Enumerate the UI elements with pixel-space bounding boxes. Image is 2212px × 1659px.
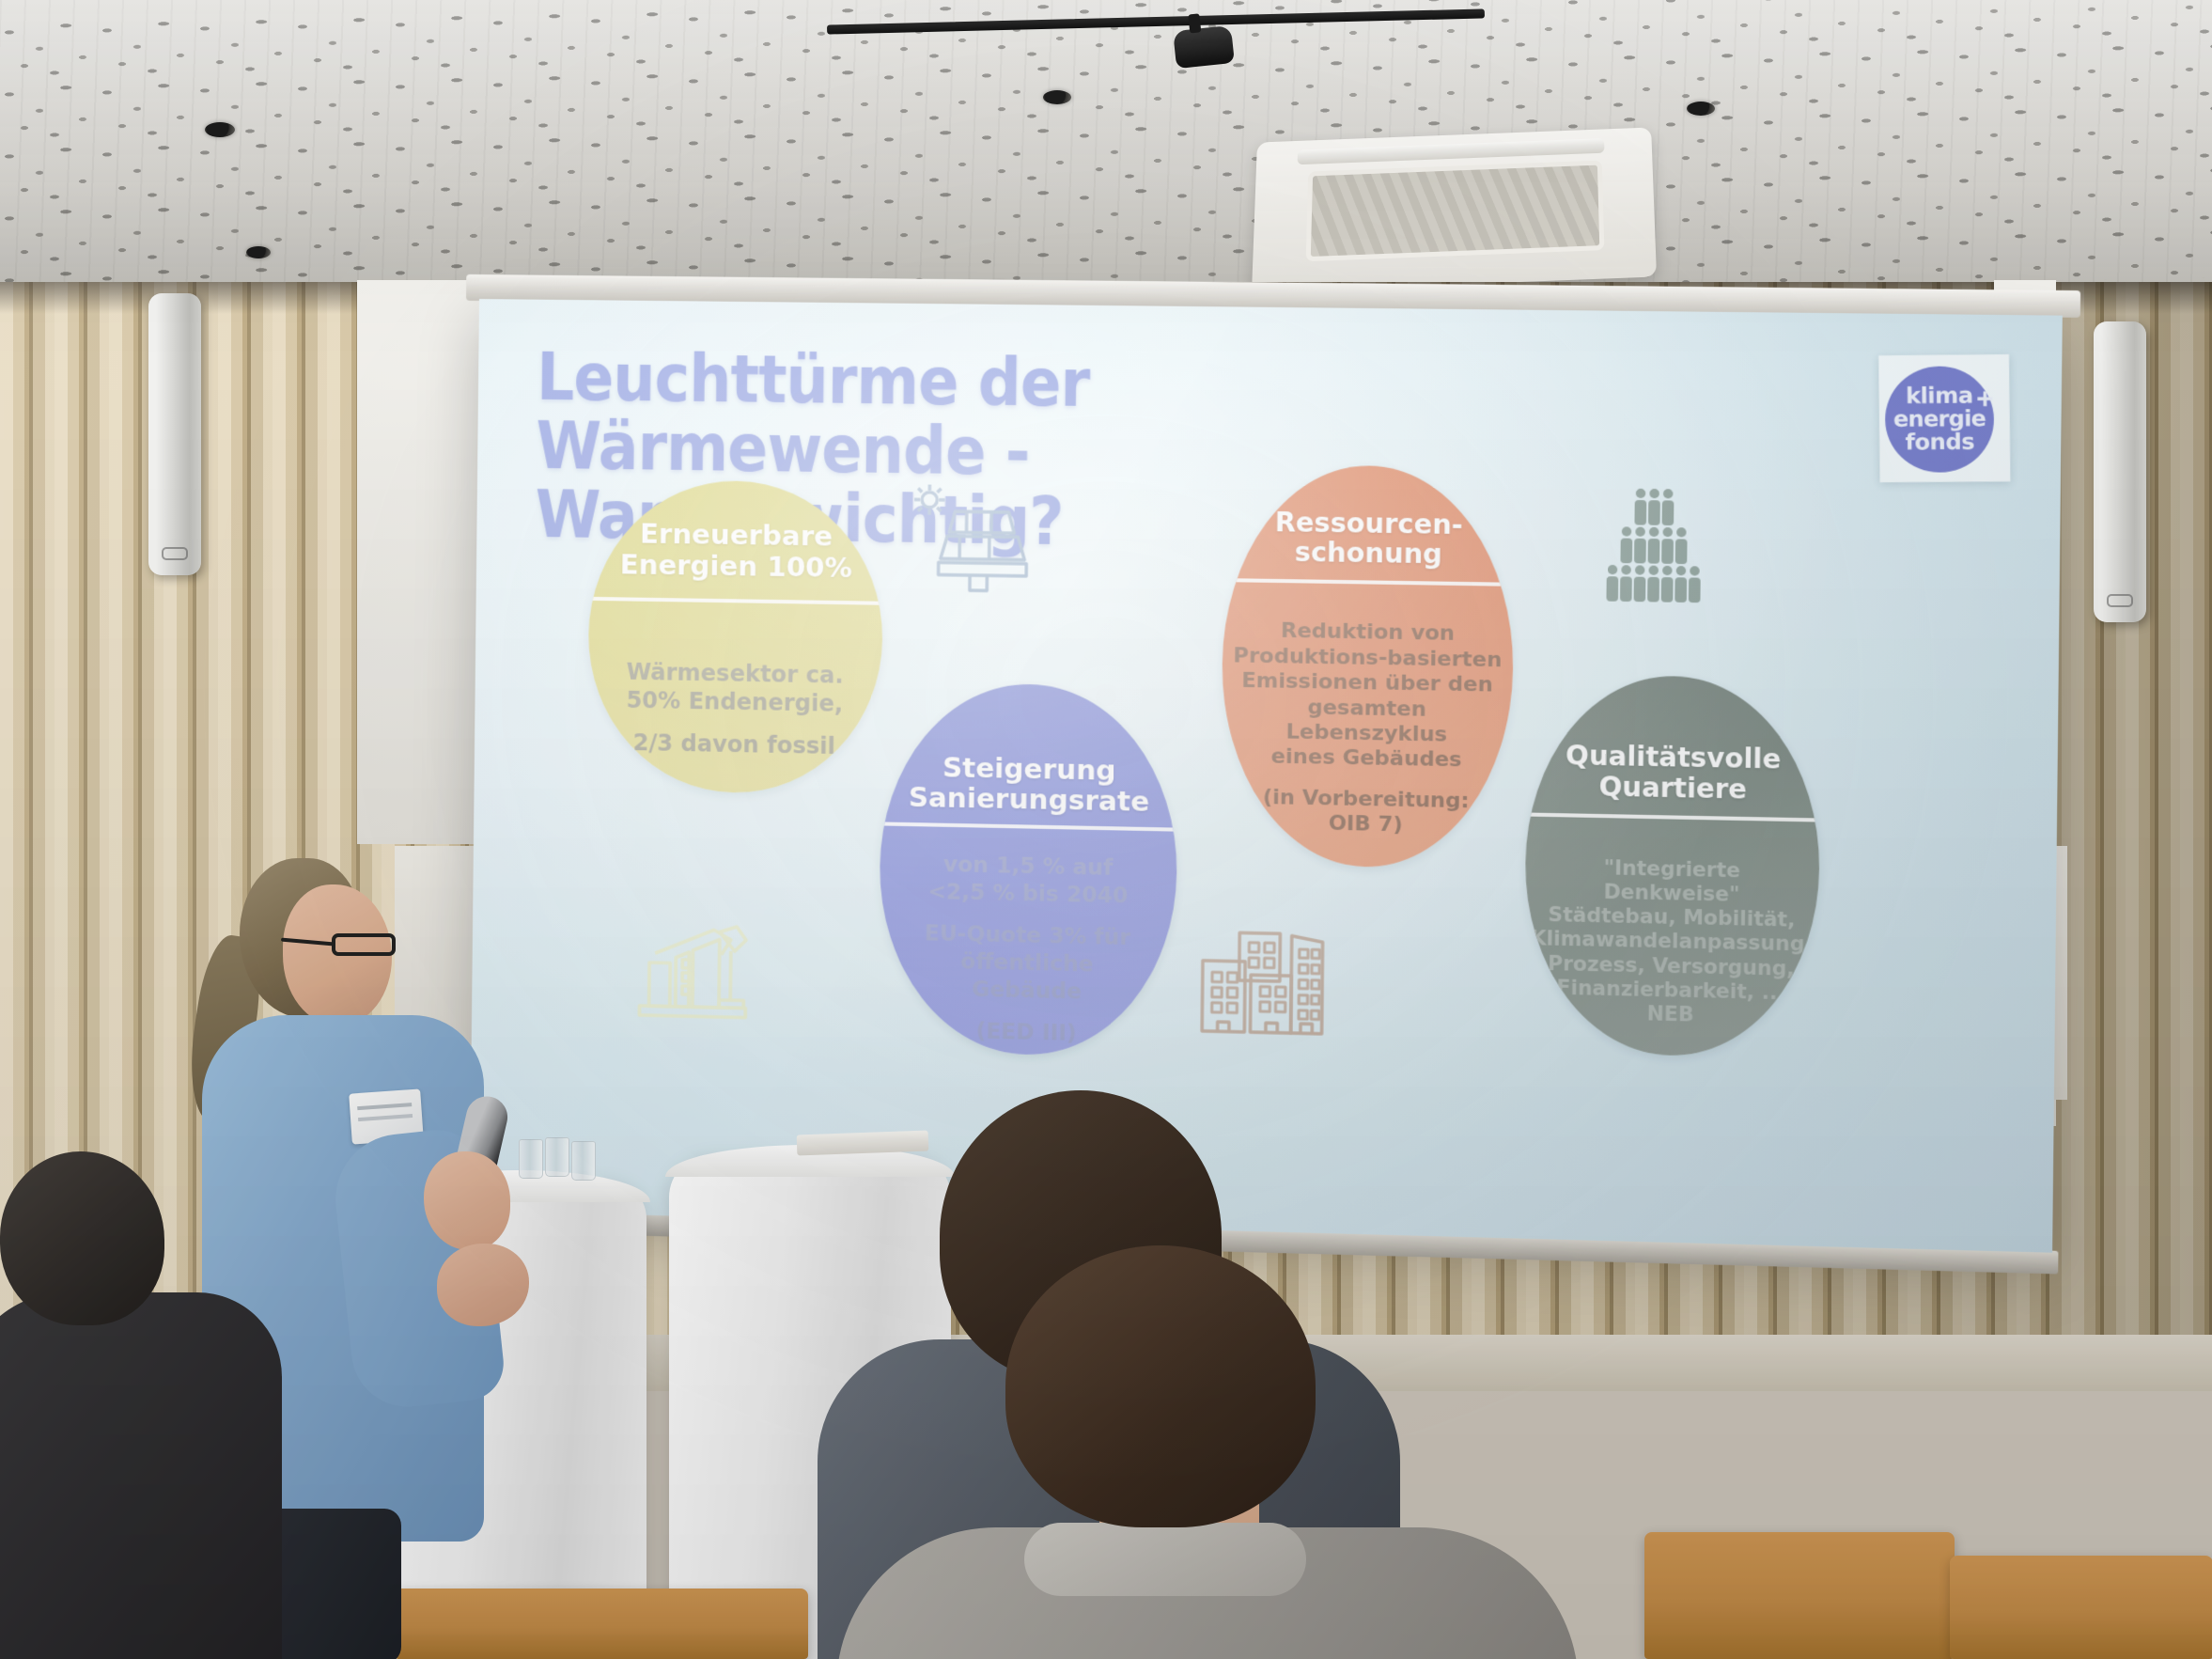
bubble-heading: Steigerung Sanierungsrate [880, 681, 1178, 827]
logo-line-energie: energie [1893, 408, 1986, 430]
audience-member-left [0, 1151, 282, 1659]
logo-plus-icon: + [1976, 383, 1994, 416]
wooden-chair [1950, 1556, 2212, 1659]
right-column-speaker [2094, 321, 2146, 622]
bubble-resource-conservation: Ressourcen- schonung Reduktion von Produ… [1221, 464, 1516, 870]
drinking-glass [545, 1137, 569, 1177]
ceiling [0, 0, 2212, 299]
bubble-heading: Qualitätsvolle Quartiere [1526, 674, 1821, 819]
ceiling-spotlight [1687, 102, 1715, 116]
bubble-body-line: Wärmesektor ca. 50% Endenergie, [626, 659, 844, 719]
bubble-body: Wärmesektor ca. 50% Endenergie, 2/3 davo… [587, 601, 883, 795]
ceiling-shading [0, 0, 2212, 299]
city-buildings-icon [1194, 920, 1331, 1045]
bubble-body: von 1,5 % auf <2,5 % bis 2040 EU-Quote 3… [878, 825, 1176, 1057]
left-column-speaker [148, 293, 201, 575]
drinking-glass [571, 1141, 596, 1181]
ac-grille [1306, 161, 1605, 262]
bubble-body-line: "Integrierte Denkweise" Städtebau, Mobil… [1530, 854, 1814, 1029]
crowd-of-people-icon [1593, 485, 1711, 612]
bubble-body-line: von 1,5 % auf <2,5 % bis 2040 [927, 852, 1129, 910]
bubble-body: Reduktion von Produktions-basierten Emis… [1221, 582, 1514, 869]
drinking-glass [519, 1139, 543, 1179]
ceiling-air-conditioner [1252, 127, 1657, 291]
bubble-body-line: (in Vorbereitung: OIB 7) [1262, 786, 1469, 840]
presenter-hand [424, 1151, 510, 1250]
audience-front-collar [1024, 1523, 1306, 1596]
eyeglasses-icon [332, 933, 396, 956]
bubble-body-line: 2/3 davon fossil [633, 729, 836, 761]
ceiling-spotlight [205, 122, 235, 137]
audience-member-front [865, 1245, 1541, 1659]
bubble-body-line: EU-Quote 3% für öffentliche Gebäude [924, 921, 1130, 1007]
bubble-body-line: (EED III) [975, 1018, 1076, 1047]
wooden-chair [1644, 1532, 1955, 1659]
audience-left-head [0, 1151, 164, 1325]
logo-line-fonds: fonds [1905, 431, 1974, 454]
bubble-renovation-rate: Steigerung Sanierungsrate von 1,5 % auf … [878, 681, 1178, 1057]
oil-pumpjack-icon [626, 903, 759, 1025]
bubble-body-line: Reduktion von Produktions-basierten Emis… [1231, 618, 1503, 775]
logo-line-klima: klima [1906, 384, 1973, 407]
logo-circle: klima energie fonds [1885, 366, 1995, 473]
solar-panel-sun-icon [905, 478, 1031, 603]
ceiling-spotlight [1043, 90, 1071, 104]
track-spotlight [1173, 25, 1235, 69]
klima-energie-fonds-logo: klima energie fonds + [1878, 354, 2010, 483]
conference-room-photo: Leuchttürme der Wärmewende - Warum wicht… [0, 0, 2212, 1659]
audience-front-head [1005, 1245, 1316, 1527]
bubble-quality-districts: Qualitätsvolle Quartiere "Integrierte De… [1523, 674, 1821, 1059]
ceiling-spotlight [246, 246, 271, 258]
audience-left-jacket [0, 1292, 282, 1659]
bubble-renewable-energy: Erneuerbare Energien 100% Wärmesektor ca… [587, 479, 884, 796]
bubble-body: "Integrierte Denkweise" Städtebau, Mobil… [1523, 817, 1819, 1059]
